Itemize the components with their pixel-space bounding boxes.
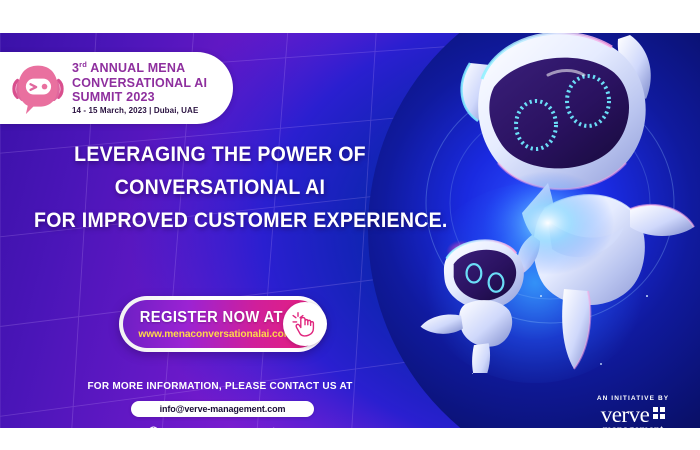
register-button[interactable]: REGISTER NOW AT www.menaconversationalai…: [123, 300, 322, 348]
sponsor-subname: management: [580, 424, 686, 428]
sponsor-name-row: verve: [580, 404, 686, 426]
headline: LEVERAGING THE POWER OF CONVERSATIONAL A…: [20, 143, 420, 233]
contact-email-pill[interactable]: info@verve-management.com: [131, 401, 314, 417]
register-button-url: www.menaconversationalai.com: [138, 328, 292, 340]
headline-line-3: FOR IMPROVED CUSTOMER EXPERIENCE.: [34, 209, 406, 233]
badge-ordinal-suffix: rd: [79, 60, 87, 69]
event-banner: 3rd ANNUAL MENA CONVERSATIONAL AI SUMMIT…: [0, 33, 700, 428]
square: [660, 414, 665, 419]
hand-tap-glyph: [291, 310, 319, 338]
four-squares-icon: [653, 407, 665, 419]
badge-date-venue: 14 - 15 March, 2023 | Dubai, UAE: [72, 107, 207, 115]
headline-line-2: CONVERSATIONAL AI: [34, 176, 406, 200]
badge-text-block: 3rd ANNUAL MENA CONVERSATIONAL AI SUMMIT…: [72, 61, 207, 115]
globe-icon: [148, 426, 159, 429]
square: [660, 407, 665, 412]
contact-heading: FOR MORE INFORMATION, PLEASE CONTACT US …: [20, 381, 420, 392]
sponsor-prefix: AN INITIATIVE BY: [580, 395, 686, 402]
badge-line-1: 3rd ANNUAL MENA: [72, 61, 207, 75]
contact-email: info@verve-management.com: [160, 404, 286, 414]
square: [653, 414, 658, 419]
event-logo-badge: 3rd ANNUAL MENA CONVERSATIONAL AI SUMMIT…: [0, 52, 233, 124]
contact-website: www.verve-management.com: [166, 426, 297, 429]
contact-website-row[interactable]: www.verve-management.com: [131, 424, 314, 428]
robot-mascot-group: [398, 33, 700, 373]
badge-line-3: SUMMIT 2023: [72, 91, 207, 104]
hand-tap-icon: [283, 302, 327, 346]
register-button-label: REGISTER NOW AT: [140, 309, 283, 327]
chatbot-robot-icon: [10, 60, 66, 116]
sponsor-logo: AN INITIATIVE BY verve management: [580, 395, 686, 428]
headline-line-1: LEVERAGING THE POWER OF: [34, 143, 406, 167]
register-button-outer[interactable]: REGISTER NOW AT www.menaconversationalai…: [119, 296, 326, 352]
badge-line-1-rest: ANNUAL MENA: [87, 61, 185, 75]
badge-line-2: CONVERSATIONAL AI: [72, 77, 207, 90]
sponsor-name: verve: [601, 404, 650, 426]
square: [653, 407, 658, 412]
